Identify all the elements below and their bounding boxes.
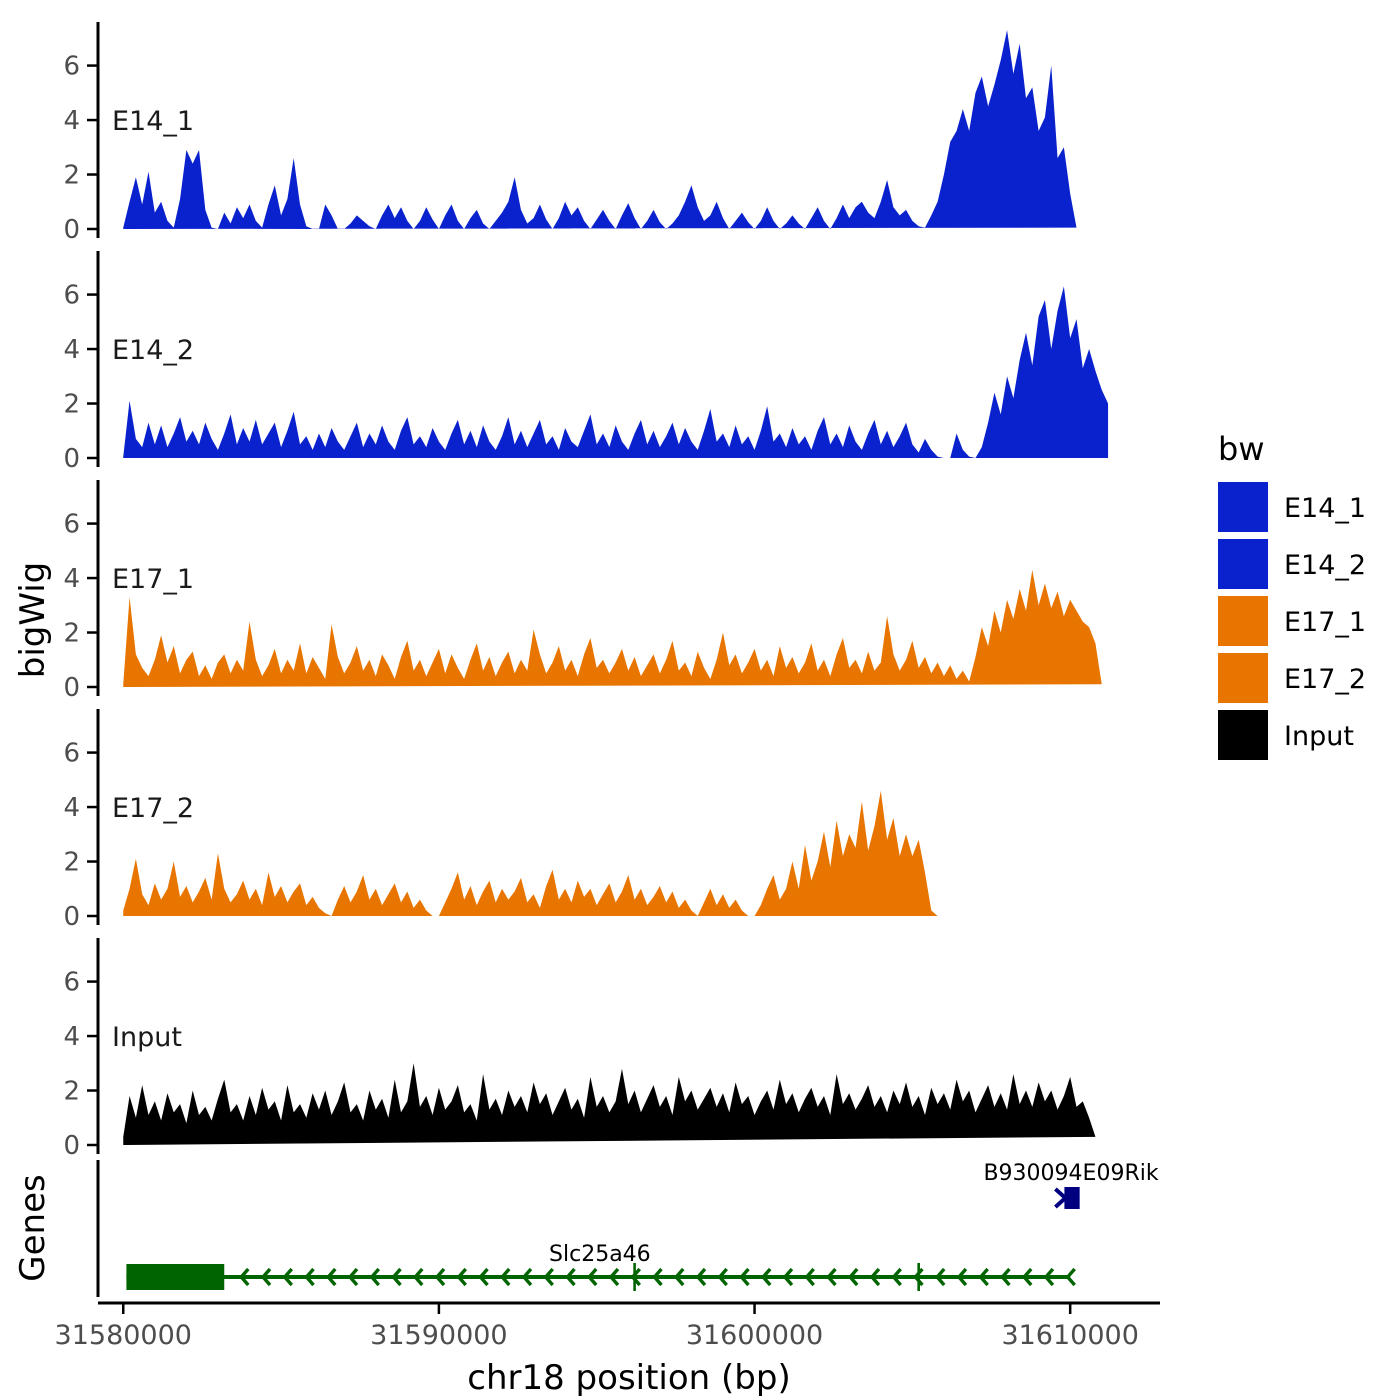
y-tick-label-e14_2-6: 6 <box>63 281 80 311</box>
x-axis-title: chr18 position (bp) <box>467 1358 790 1398</box>
legend-swatch-e17_1[interactable] <box>1218 596 1268 646</box>
gene-exon-Slc25a46-1[interactable] <box>126 1264 224 1290</box>
y-tick-label-e17_1-6: 6 <box>63 510 80 540</box>
legend-swatch-e14_1[interactable] <box>1218 482 1268 532</box>
y-tick-label-e17_1-4: 4 <box>63 564 80 594</box>
y-tick-label-e17_2-2: 2 <box>63 848 80 878</box>
legend-swatch-e17_2[interactable] <box>1218 653 1268 703</box>
y-tick-label-e14_1-6: 6 <box>63 52 80 82</box>
coverage-track-e17_2 <box>123 791 1083 916</box>
gene-label-B930094E09Rik: B930094E09Rik <box>983 1161 1158 1186</box>
legend-label-e14_2: E14_2 <box>1284 550 1366 581</box>
coverage-track-input <box>123 1063 1095 1145</box>
panel-label-e14_2: E14_2 <box>112 335 194 366</box>
panel-label-e17_2: E17_2 <box>112 793 194 824</box>
legend-swatch-e14_2[interactable] <box>1218 539 1268 589</box>
y-tick-label-e14_2-4: 4 <box>63 335 80 365</box>
gene-strand-chevron <box>1068 1269 1075 1285</box>
y-tick-label-input-0: 0 <box>63 1131 80 1161</box>
x-tick-label-31590000: 31590000 <box>370 1320 507 1351</box>
y-tick-label-e14_1-2: 2 <box>63 161 80 191</box>
y-tick-label-e17_2-4: 4 <box>63 793 80 823</box>
legend-title: bw <box>1218 430 1264 468</box>
y-tick-label-input-6: 6 <box>63 968 80 998</box>
gene-strand-arrow-B930094E09Rik <box>1055 1189 1065 1207</box>
y-tick-label-e14_1-4: 4 <box>63 106 80 136</box>
panel-label-e14_1: E14_1 <box>112 106 194 137</box>
legend-label-e17_2: E17_2 <box>1284 664 1366 695</box>
y-axis-title: bigWig <box>13 562 53 679</box>
coverage-track-e17_1 <box>123 570 1102 687</box>
y-tick-label-e14_2-2: 2 <box>63 390 80 420</box>
y-tick-label-e17_1-0: 0 <box>63 673 80 703</box>
legend-label-e17_1: E17_1 <box>1284 607 1366 638</box>
y-tick-label-e17_1-2: 2 <box>63 619 80 649</box>
y-tick-label-e14_2-0: 0 <box>63 444 80 474</box>
panel-label-e17_1: E17_1 <box>112 564 194 595</box>
coverage-track-e14_2 <box>123 286 1108 458</box>
y-tick-label-input-4: 4 <box>63 1022 80 1052</box>
x-tick-label-31610000: 31610000 <box>1001 1320 1138 1351</box>
x-tick-label-31580000: 31580000 <box>55 1320 192 1351</box>
genome-browser-figure: 0246E14_10246E14_20246E17_10246E17_20246… <box>0 0 1400 1400</box>
legend-swatch-input[interactable] <box>1218 710 1268 760</box>
genes-strip-label: Genes <box>13 1174 53 1281</box>
y-tick-label-e17_2-0: 0 <box>63 902 80 932</box>
legend-label-input: Input <box>1284 721 1354 752</box>
figure-root: 0246E14_10246E14_20246E17_10246E17_20246… <box>0 0 1400 1400</box>
panel-label-input: Input <box>112 1022 182 1053</box>
coverage-track-e14_1 <box>123 30 1076 229</box>
y-tick-label-e17_2-6: 6 <box>63 739 80 769</box>
y-tick-label-e14_1-0: 0 <box>63 215 80 245</box>
x-tick-label-31600000: 31600000 <box>686 1320 823 1351</box>
legend-label-e14_1: E14_1 <box>1284 493 1366 524</box>
y-tick-label-input-2: 2 <box>63 1077 80 1107</box>
